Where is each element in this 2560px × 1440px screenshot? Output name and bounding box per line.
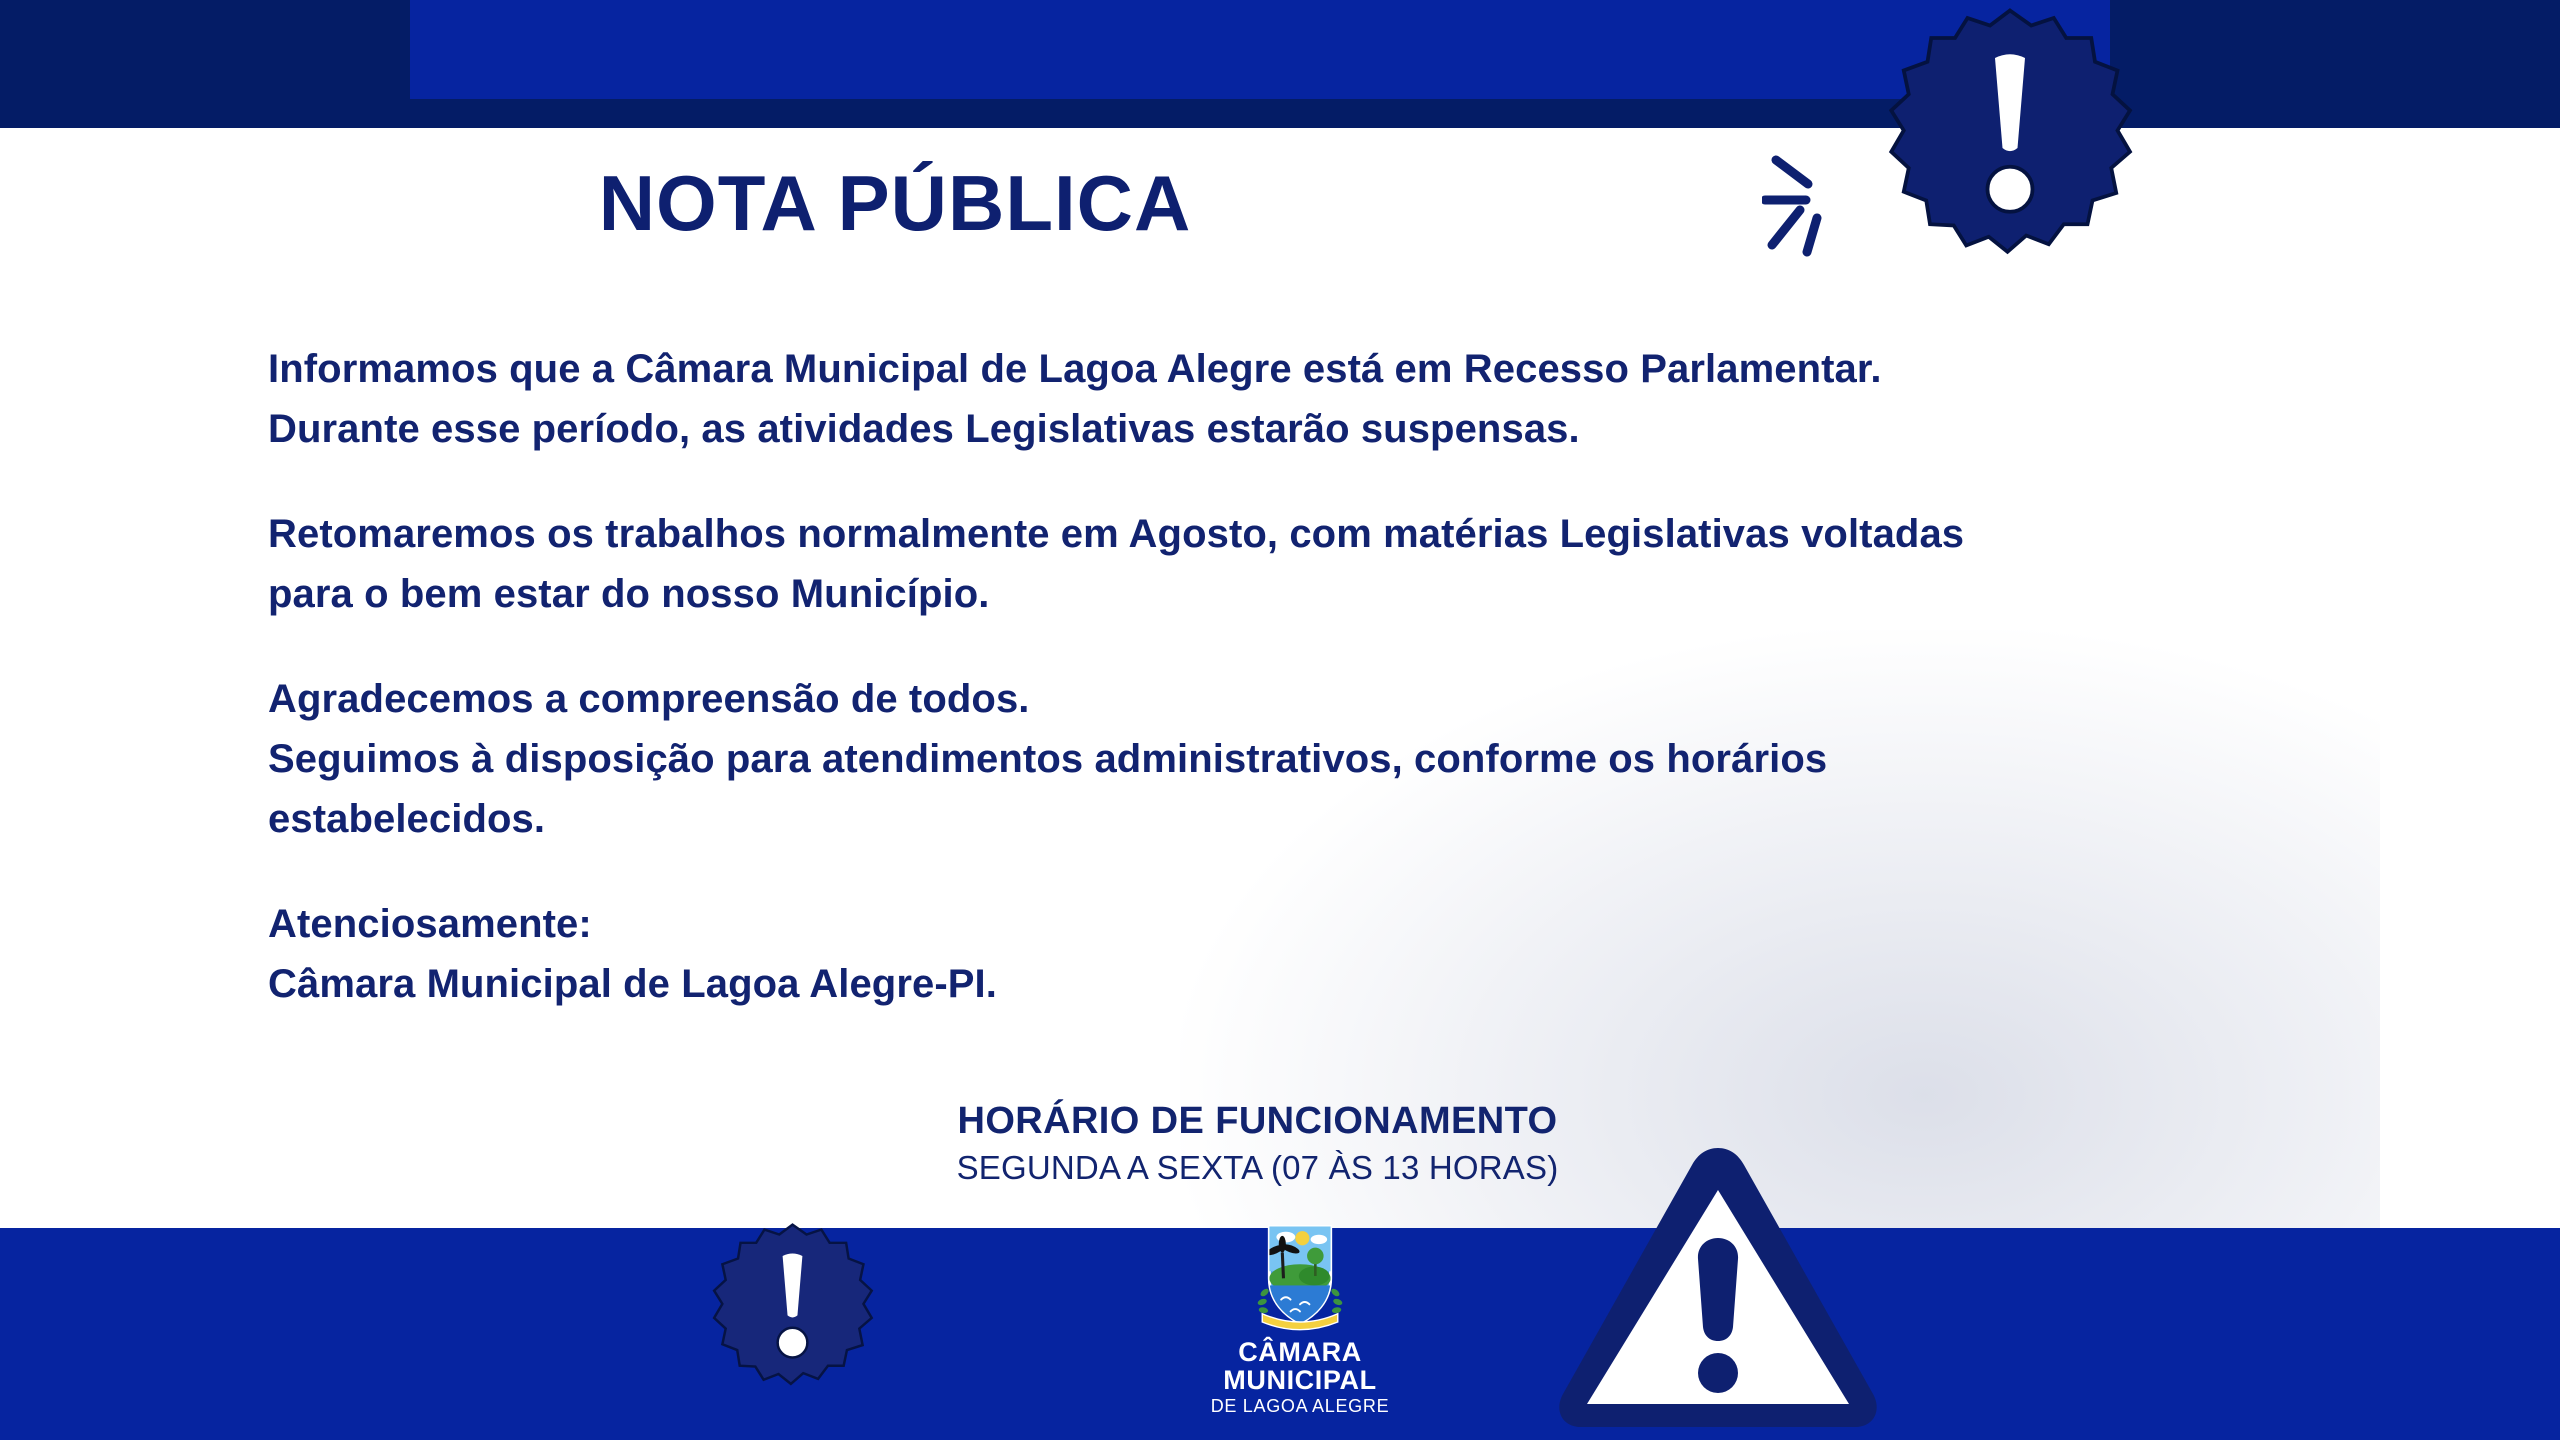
logo-line-municipal: MUNICIPAL [1200, 1366, 1400, 1394]
exclamation-badge-icon [1885, 8, 2135, 258]
paragraph-1-line-2: Durante esse período, as atividades Legi… [268, 400, 2328, 460]
warning-triangle-icon [1553, 1142, 1883, 1432]
footer-logo-block: CÂMARA MUNICIPAL DE LAGOA ALEGRE [1200, 1217, 1400, 1418]
public-notice-poster: NOTA PÚBLICA Informamos que a Câmara Mun… [0, 0, 2560, 1440]
opening-hours-subtitle: SEGUNDA A SEXTA (07 ÀS 13 HORAS) [0, 1147, 2515, 1188]
top-banner [0, 0, 2560, 128]
paragraph-2: Retomaremos os trabalhos normalmente em … [268, 505, 2328, 624]
top-banner-accent-bar [410, 0, 2110, 99]
signature-salutation: Atenciosamente: [268, 895, 2328, 955]
paragraph-3-line-2: Seguimos à disposição para atendimentos … [268, 730, 2328, 790]
logo-line-city: DE LAGOA ALEGRE [1200, 1396, 1400, 1418]
logo-line-camara: CÂMARA [1200, 1339, 1400, 1366]
paragraph-2-line-1: Retomaremos os trabalhos normalmente em … [268, 505, 2328, 565]
paragraph-1: Informamos que a Câmara Municipal de Lag… [268, 340, 2328, 459]
page-title: NOTA PÚBLICA [0, 158, 1790, 249]
signature-block: Atenciosamente: Câmara Municipal de Lago… [268, 895, 2328, 1014]
paragraph-2-line-2: para o bem estar do nosso Município. [268, 565, 2328, 625]
signature-entity: Câmara Municipal de Lagoa Alegre-PI. [268, 955, 2328, 1015]
paragraph-3-line-1: Agradecemos a compreensão de todos. [268, 670, 2328, 730]
paragraph-3-line-3: estabelecidos. [268, 790, 2328, 850]
spark-lines-icon [1762, 140, 1892, 265]
opening-hours-title: HORÁRIO DE FUNCIONAMENTO [0, 1100, 2515, 1143]
opening-hours-block: HORÁRIO DE FUNCIONAMENTO SEGUNDA A SEXTA… [0, 1100, 2515, 1188]
notice-body: Informamos que a Câmara Municipal de Lag… [268, 340, 2328, 1014]
municipal-crest-icon [1241, 1217, 1359, 1335]
paragraph-1-line-1: Informamos que a Câmara Municipal de Lag… [268, 340, 2328, 400]
paragraph-3: Agradecemos a compreensão de todos. Segu… [268, 670, 2328, 849]
exclamation-badge-icon-footer [710, 1223, 875, 1388]
